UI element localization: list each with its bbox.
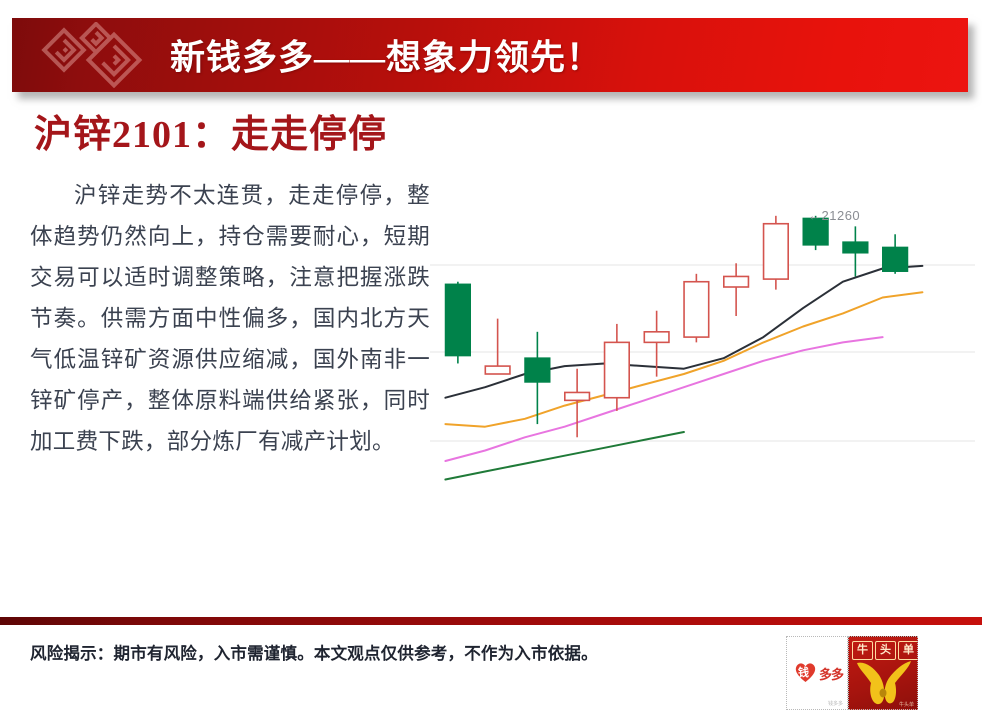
chart-svg (430, 190, 975, 500)
candle (525, 332, 550, 424)
stamp-heart-char: 钱 (798, 664, 809, 680)
candle (446, 282, 471, 364)
header-banner: 新钱多多——想象力领先！ (12, 18, 968, 92)
ma-line-ma-magenta (445, 337, 882, 461)
price-annotation-label: ←21260 (808, 208, 860, 223)
header-title: 新钱多多——想象力领先！ (170, 30, 602, 81)
candle-body (644, 332, 669, 343)
footer-divider (0, 617, 982, 625)
candle-body (525, 358, 550, 382)
candle-body (764, 224, 789, 279)
candle-body (565, 392, 590, 400)
candle (883, 234, 908, 274)
diamond-lattice-logo-icon (34, 22, 154, 88)
candle-body (684, 282, 709, 337)
candle-body (485, 366, 510, 374)
candle-body (843, 242, 868, 253)
candle (485, 319, 510, 374)
stamp-tiny-text: 牛头单 (899, 701, 914, 708)
candle (565, 369, 590, 438)
candlestick-chart (430, 190, 975, 500)
candle (843, 226, 868, 276)
candle (605, 324, 630, 411)
niutoudan-stamp: 牛 头 单 牛头单 (848, 636, 918, 710)
candle-body (605, 342, 630, 397)
qianduoduo-stamp: 钱 多多 钱多多 (786, 636, 848, 710)
slide-page: 新钱多多——想象力领先！ 沪锌2101：走走停停 沪锌走势不太连贯，走走停停，整… (0, 0, 982, 720)
candle (684, 274, 709, 343)
footer-stamps: 钱 多多 钱多多 牛 头 单 牛头单 (786, 636, 918, 710)
page-title: 沪锌2101：走走停停 (34, 103, 387, 158)
candle (724, 263, 749, 316)
candle-body (446, 284, 471, 355)
candle (764, 216, 789, 290)
stamp-tiny-text: 钱多多 (828, 700, 843, 707)
candle-body (724, 276, 749, 287)
chart-candles (446, 216, 908, 437)
ma-line-ma-green (445, 432, 684, 480)
bull-head-icon (853, 657, 915, 707)
disclaimer-text: 风险揭示：期市有风险，入市需谨慎。本文观点仅供参考，不作为入市依据。 (30, 640, 598, 664)
stamp-label: 多多 (819, 664, 843, 683)
candle-body (883, 247, 908, 271)
body-paragraph: 沪锌走势不太连贯，走走停停，整体趋势仍然向上，持仓需要耐心，短期交易可以适时调整… (30, 175, 430, 462)
